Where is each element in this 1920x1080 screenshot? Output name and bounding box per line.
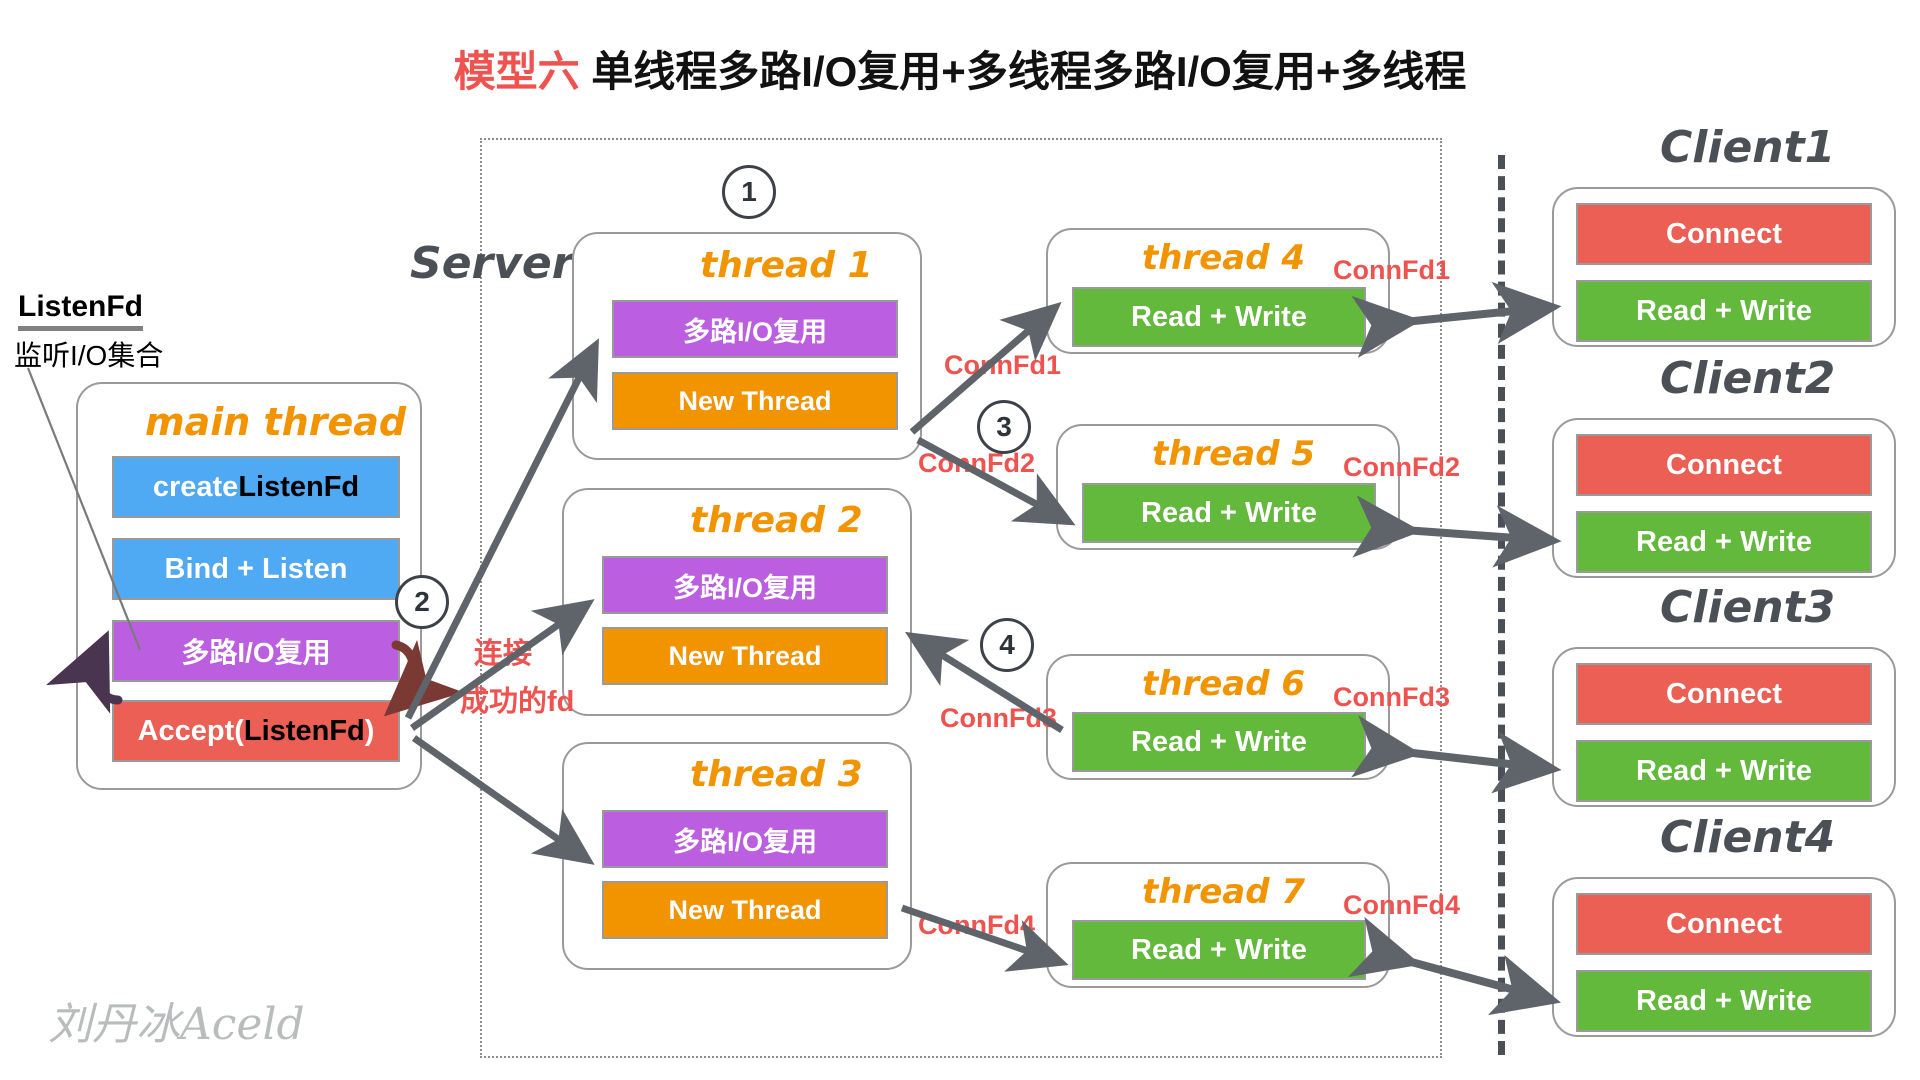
bar-text-black: ListenFd — [244, 715, 365, 748]
server-client-divider — [1498, 155, 1505, 1055]
bar-text: Read + Write — [1636, 295, 1812, 328]
thread-5-title: thread 5 — [1152, 434, 1315, 474]
client-4-bar-read-write[interactable]: Read + Write — [1576, 970, 1872, 1032]
bar-text: New Thread — [668, 895, 821, 926]
thread-3-bar-io-multiplexing[interactable]: 多路I/O复用 — [602, 810, 888, 868]
thread-1-title: thread 1 — [700, 245, 873, 286]
bar-text-white: 多路I/O复用 — [181, 631, 330, 671]
bar-text: New Thread — [678, 386, 831, 417]
bar-text-white: create — [153, 471, 238, 504]
step-circle-1: 1 — [722, 165, 776, 219]
author-watermark: 刘丹冰Aceld — [48, 988, 305, 1052]
title-rest: 单线程多路I/O复用+多线程多路I/O复用+多线程 — [591, 48, 1466, 95]
listenfd-sublabel: 监听I/O集合 — [14, 334, 163, 374]
thread-2-bar-io-multiplexing[interactable]: 多路I/O复用 — [602, 556, 888, 614]
thread-7-title: thread 7 — [1142, 872, 1305, 912]
bar-text: Connect — [1666, 218, 1782, 251]
thread-7-bar-read-write[interactable]: Read + Write — [1072, 920, 1366, 980]
client-3-bar-read-write[interactable]: Read + Write — [1576, 740, 1872, 802]
step-number: 3 — [996, 411, 1012, 443]
step-number: 2 — [414, 586, 430, 618]
page-title: 模型六 单线程多路I/O复用+多线程多路I/O复用+多线程 — [0, 38, 1920, 99]
bar-text: Read + Write — [1141, 497, 1317, 530]
bar-text: Read + Write — [1636, 985, 1812, 1018]
bar-text: Read + Write — [1131, 726, 1307, 759]
main-thread-bar-accept-listenfd[interactable]: Accept(ListenFd) — [112, 700, 400, 762]
thread-4-bar-read-write[interactable]: Read + Write — [1072, 287, 1366, 347]
step-circle-3: 3 — [977, 400, 1031, 454]
main-thread-bar-io-multiplexing[interactable]: 多路I/O复用 — [112, 620, 400, 682]
thread-3-bar-new-thread[interactable]: New Thread — [602, 881, 888, 939]
client-3-title: Client3 — [1660, 582, 1835, 633]
main-thread-bar-create-listenfd[interactable]: create ListenFd — [112, 456, 400, 518]
step-number: 1 — [741, 176, 757, 208]
connfd4-left-label: ConnFd4 — [918, 910, 1035, 941]
listenfd-label: ListenFd — [18, 290, 143, 331]
bar-text: New Thread — [668, 641, 821, 672]
bar-text-white: Bind + Listen — [165, 553, 348, 586]
bar-text: Read + Write — [1636, 526, 1812, 559]
thread-7-connfd-right-label: ConnFd4 — [1343, 890, 1460, 921]
thread-2-title: thread 2 — [690, 500, 863, 541]
connfd2-left-label: ConnFd2 — [918, 448, 1035, 479]
bar-text: Read + Write — [1636, 755, 1812, 788]
thread-4-title: thread 4 — [1142, 238, 1305, 278]
bar-text-black: ListenFd — [238, 471, 359, 504]
thread-2-bar-new-thread[interactable]: New Thread — [602, 627, 888, 685]
accept-fd-label-line2: 成功的fd — [460, 678, 574, 720]
step-circle-2: 2 — [395, 575, 449, 629]
connfd3-left-label: ConnFd3 — [940, 703, 1057, 734]
accept-fd-label-line1: 连接 — [474, 630, 532, 672]
thread-4-connfd-right-label: ConnFd1 — [1333, 255, 1450, 286]
step-circle-4: 4 — [980, 618, 1034, 672]
thread-5-bar-read-write[interactable]: Read + Write — [1082, 483, 1376, 543]
bar-text: Connect — [1666, 678, 1782, 711]
client-1-title: Client1 — [1660, 122, 1835, 173]
main-thread-title: main thread — [145, 400, 406, 444]
client-1-bar-read-write[interactable]: Read + Write — [1576, 280, 1872, 342]
bar-text: Read + Write — [1131, 301, 1307, 334]
diagram-canvas: 模型六 单线程多路I/O复用+多线程多路I/O复用+多线程 ListenFd 监… — [0, 0, 1920, 1080]
client-4-title: Client4 — [1660, 812, 1835, 863]
connfd1-left-label: ConnFd1 — [944, 350, 1061, 381]
thread-3-title: thread 3 — [690, 754, 863, 795]
bar-text-white: Accept( — [138, 715, 244, 748]
client-3-bar-connect[interactable]: Connect — [1576, 663, 1872, 725]
bar-text: 多路I/O复用 — [673, 566, 817, 605]
bar-text: Connect — [1666, 449, 1782, 482]
step-number: 4 — [999, 629, 1015, 661]
thread-1-bar-io-multiplexing[interactable]: 多路I/O复用 — [612, 300, 898, 358]
bar-text: 多路I/O复用 — [683, 310, 827, 349]
client-4-bar-connect[interactable]: Connect — [1576, 893, 1872, 955]
main-thread-bar-bind-listen[interactable]: Bind + Listen — [112, 538, 400, 600]
client-2-bar-read-write[interactable]: Read + Write — [1576, 511, 1872, 573]
client-2-title: Client2 — [1660, 353, 1835, 404]
bar-text-white2: ) — [365, 715, 375, 748]
thread-5-connfd-right-label: ConnFd2 — [1343, 452, 1460, 483]
client-1-bar-connect[interactable]: Connect — [1576, 203, 1872, 265]
thread-1-bar-new-thread[interactable]: New Thread — [612, 372, 898, 430]
bar-text: Connect — [1666, 908, 1782, 941]
client-2-bar-connect[interactable]: Connect — [1576, 434, 1872, 496]
title-model: 模型六 — [454, 48, 580, 95]
bar-text: 多路I/O复用 — [673, 820, 817, 859]
bar-text: Read + Write — [1131, 934, 1307, 967]
server-label: Server — [410, 238, 573, 289]
thread-6-bar-read-write[interactable]: Read + Write — [1072, 712, 1366, 772]
thread-6-title: thread 6 — [1142, 664, 1305, 704]
thread-6-connfd-right-label: ConnFd3 — [1333, 682, 1450, 713]
